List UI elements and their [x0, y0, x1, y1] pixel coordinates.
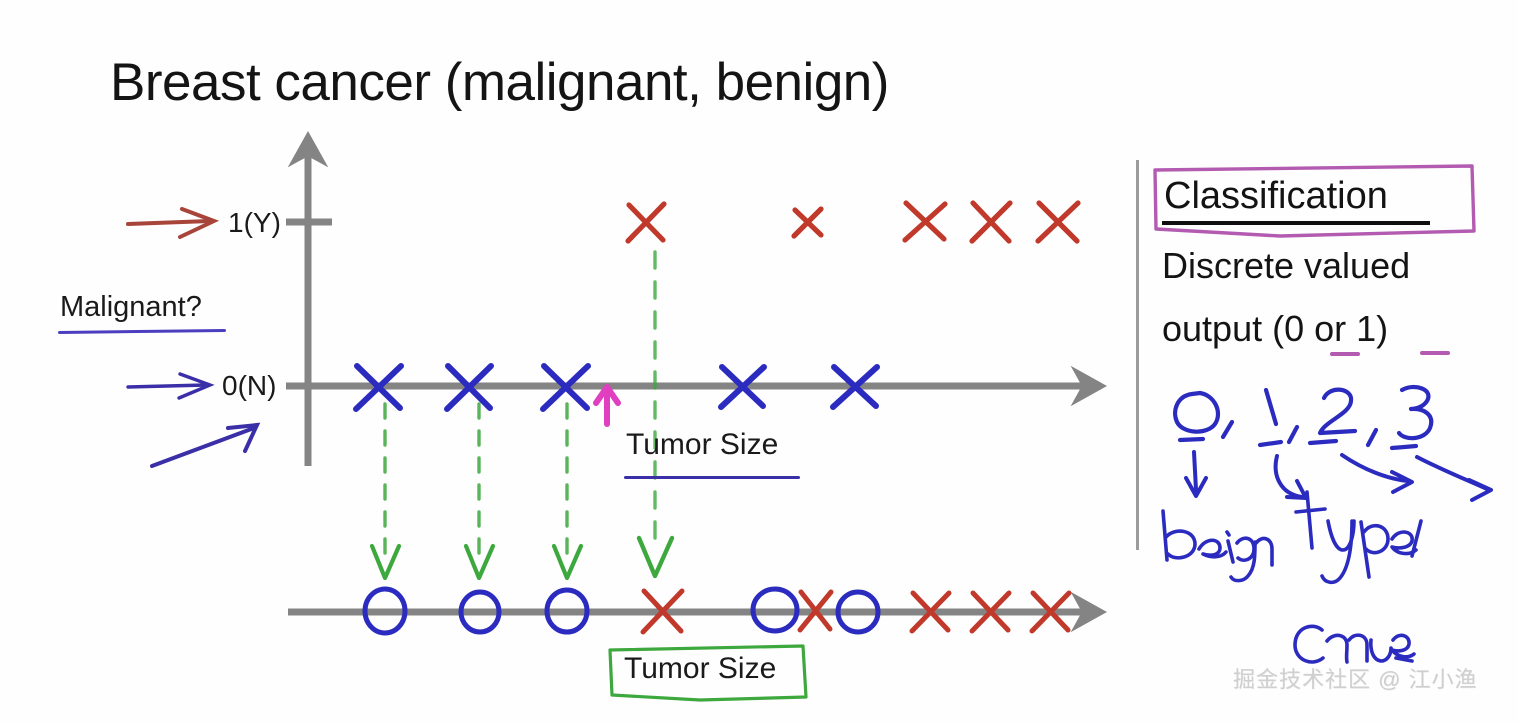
annotation-arrow-blue-straight	[128, 374, 210, 398]
benign-marker	[356, 366, 401, 409]
malignant-marker	[905, 203, 945, 240]
projection-arrow	[554, 404, 581, 578]
handwritten-digit-2	[1310, 390, 1355, 443]
watermark: 掘金技术社区 @ 江小渔	[1233, 662, 1478, 694]
malignant-marker	[800, 592, 831, 630]
benign-marker	[833, 367, 877, 407]
handwritten-digit-1	[1260, 390, 1281, 445]
benign-circles-bottom	[365, 589, 878, 633]
tumor-size-label-top: Tumor Size	[626, 428, 778, 462]
handwritten-cancer	[1295, 626, 1414, 662]
tumor-size-underline	[624, 476, 800, 479]
discrete-line-1: Discrete valued	[1162, 245, 1410, 287]
handwritten-words	[1163, 492, 1421, 662]
projection-arrow	[466, 404, 493, 578]
page-title: Breast cancer (malignant, benign)	[110, 52, 889, 113]
malignant-marker	[912, 593, 949, 631]
annotation-arrow-blue-diagonal	[152, 425, 257, 466]
annotation-arrow-red	[128, 209, 214, 237]
benign-marker	[543, 366, 588, 409]
arrow-from-2	[1342, 455, 1412, 492]
tumor-size-label-bottom: Tumor Size	[624, 652, 776, 686]
handwritten-digit-3	[1392, 387, 1431, 448]
handwritten-type1	[1296, 492, 1421, 582]
panel-divider	[1136, 160, 1139, 550]
discrete-line-2: output (0 or 1)	[1162, 308, 1388, 350]
projection-arrow	[372, 404, 399, 578]
malignant-marker	[972, 593, 1009, 631]
handwritten-digits	[1175, 387, 1431, 448]
y-axis-label-zero: 0(N)	[222, 370, 276, 402]
y-axis	[286, 152, 332, 466]
benign-marker	[721, 367, 764, 407]
malignant-marker	[643, 591, 682, 632]
benign-markers-top	[356, 366, 877, 409]
benign-circle	[461, 592, 499, 632]
malignant-underline	[58, 329, 226, 334]
handwritten-comma	[1368, 430, 1376, 445]
malignant-markers-bottom	[643, 591, 1069, 632]
malignant-question-label: Malignant?	[60, 291, 202, 324]
arrow-to-benign	[1186, 452, 1206, 496]
slide-canvas: Breast cancer (malignant, benign)	[0, 0, 1518, 724]
projection-arrow-from-malignant	[639, 252, 672, 576]
malignant-marker	[1038, 203, 1078, 241]
malignant-marker	[628, 204, 664, 241]
malignant-marker	[1032, 593, 1069, 631]
handwritten-comma	[1289, 427, 1297, 442]
one-underline	[1420, 351, 1450, 355]
classification-heading: Classification	[1164, 175, 1388, 218]
classification-underline	[1162, 221, 1430, 225]
y-axis-label-one: 1(Y)	[228, 207, 281, 239]
projection-arrows-green	[372, 252, 672, 578]
arrow-to-type1	[1276, 456, 1306, 498]
handwritten-digit-0	[1175, 393, 1218, 440]
zero-underline	[1330, 352, 1360, 356]
benign-circle	[365, 589, 405, 633]
malignant-marker	[794, 209, 821, 236]
benign-marker	[447, 366, 491, 409]
handwritten-arrows	[1186, 452, 1491, 500]
malignant-marker	[972, 203, 1010, 241]
handwritten-benign	[1163, 511, 1272, 581]
malignant-markers-top	[628, 203, 1078, 241]
handwritten-comma	[1223, 422, 1232, 437]
benign-circle	[753, 589, 797, 631]
benign-circle	[547, 590, 587, 632]
benign-circle	[838, 592, 878, 632]
arrow-from-3	[1417, 457, 1491, 500]
query-arrow-magenta	[596, 387, 618, 424]
